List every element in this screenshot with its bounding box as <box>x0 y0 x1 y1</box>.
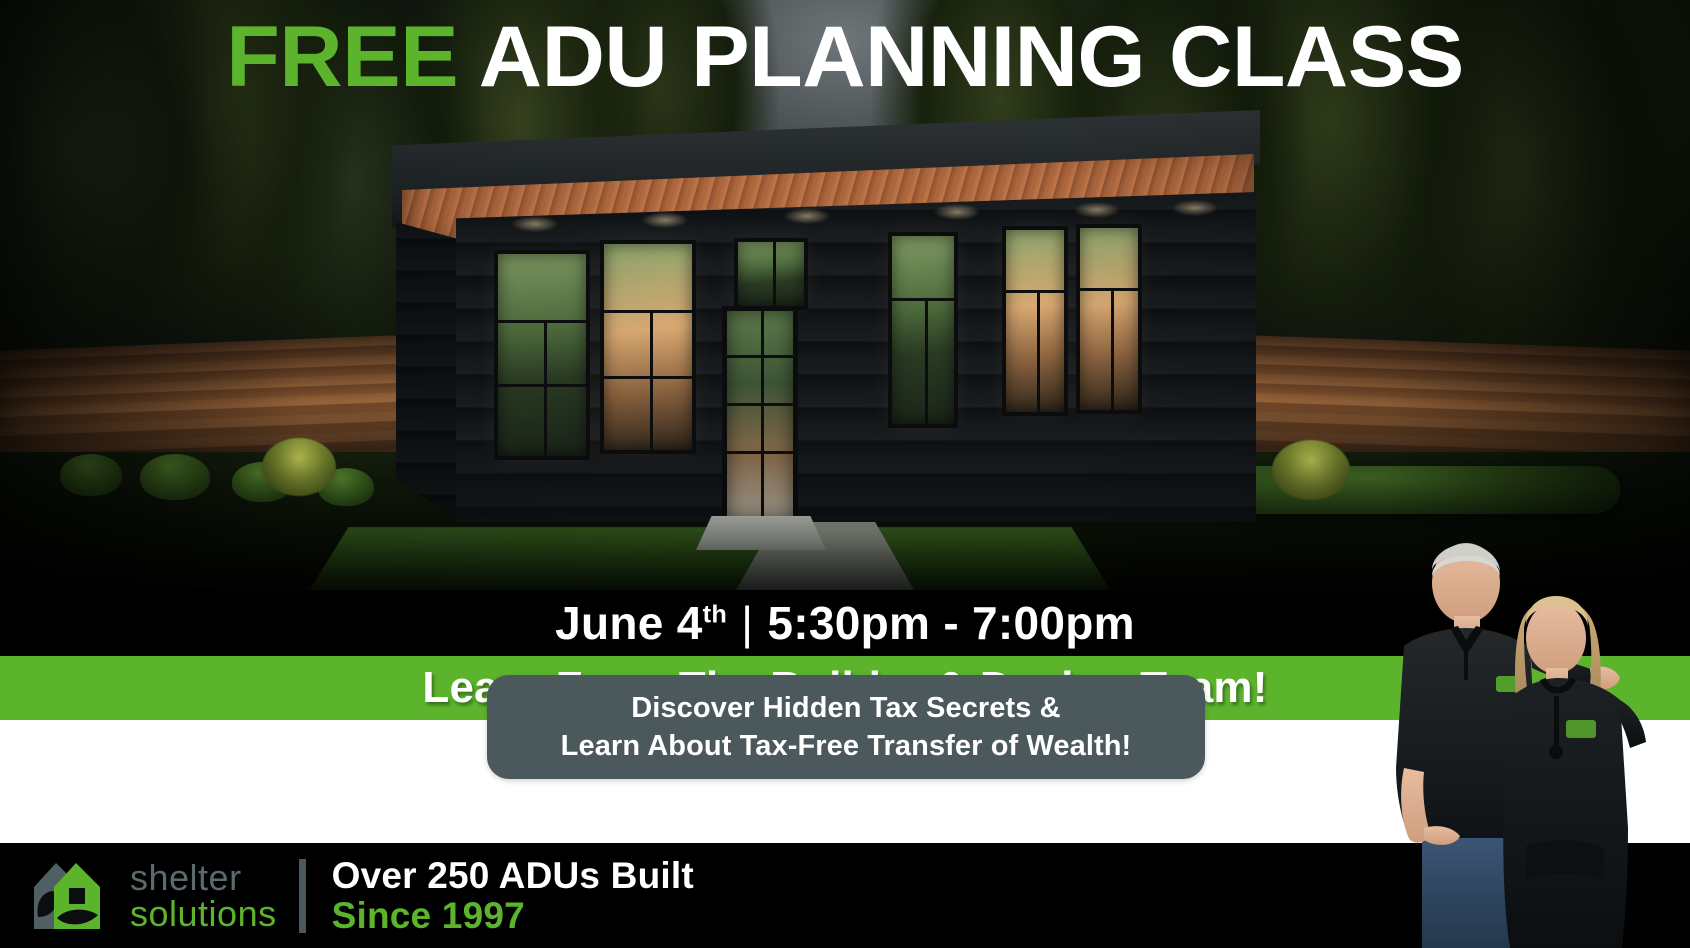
event-time-range: 5:30pm - 7:00pm <box>767 597 1135 649</box>
logo-word-shelter: shelter <box>130 860 277 895</box>
footer-divider <box>299 859 306 933</box>
tax-callout-line-2: Learn About Tax-Free Transfer of Wealth! <box>561 727 1132 765</box>
logo-wordmark: shelter solutions <box>130 860 277 931</box>
event-date-text: June 4th|5:30pm - 7:00pm <box>555 596 1135 650</box>
house-leaf-logo-icon <box>30 857 116 935</box>
promo-banner: FREE ADU PLANNING CLASS June 4th|5:30pm … <box>0 0 1690 948</box>
event-date-bar: June 4th|5:30pm - 7:00pm <box>0 590 1690 656</box>
tagline-since-year: Since 1997 <box>332 896 694 936</box>
logo-word-solutions: solutions <box>130 896 277 931</box>
headline-rest: ADU PLANNING CLASS <box>458 9 1464 105</box>
event-month-day: June 4 <box>555 597 703 649</box>
tax-callout-line-1: Discover Hidden Tax Secrets & <box>631 689 1060 727</box>
headline-free: FREE <box>226 9 458 105</box>
tax-callout-box: Discover Hidden Tax Secrets & Learn Abou… <box>487 675 1205 779</box>
footer-bar: shelter solutions Over 250 ADUs Built Si… <box>0 843 1690 948</box>
hero-bottom-fade <box>0 442 1690 592</box>
footer-tagline: Over 250 ADUs Built Since 1997 <box>332 856 694 936</box>
tagline-adus-built: Over 250 ADUs Built <box>332 856 694 896</box>
headline: FREE ADU PLANNING CLASS <box>0 14 1690 100</box>
shelter-solutions-logo: shelter solutions <box>30 857 277 935</box>
event-ordinal-suffix: th <box>703 601 727 629</box>
event-separator: | <box>727 597 767 649</box>
